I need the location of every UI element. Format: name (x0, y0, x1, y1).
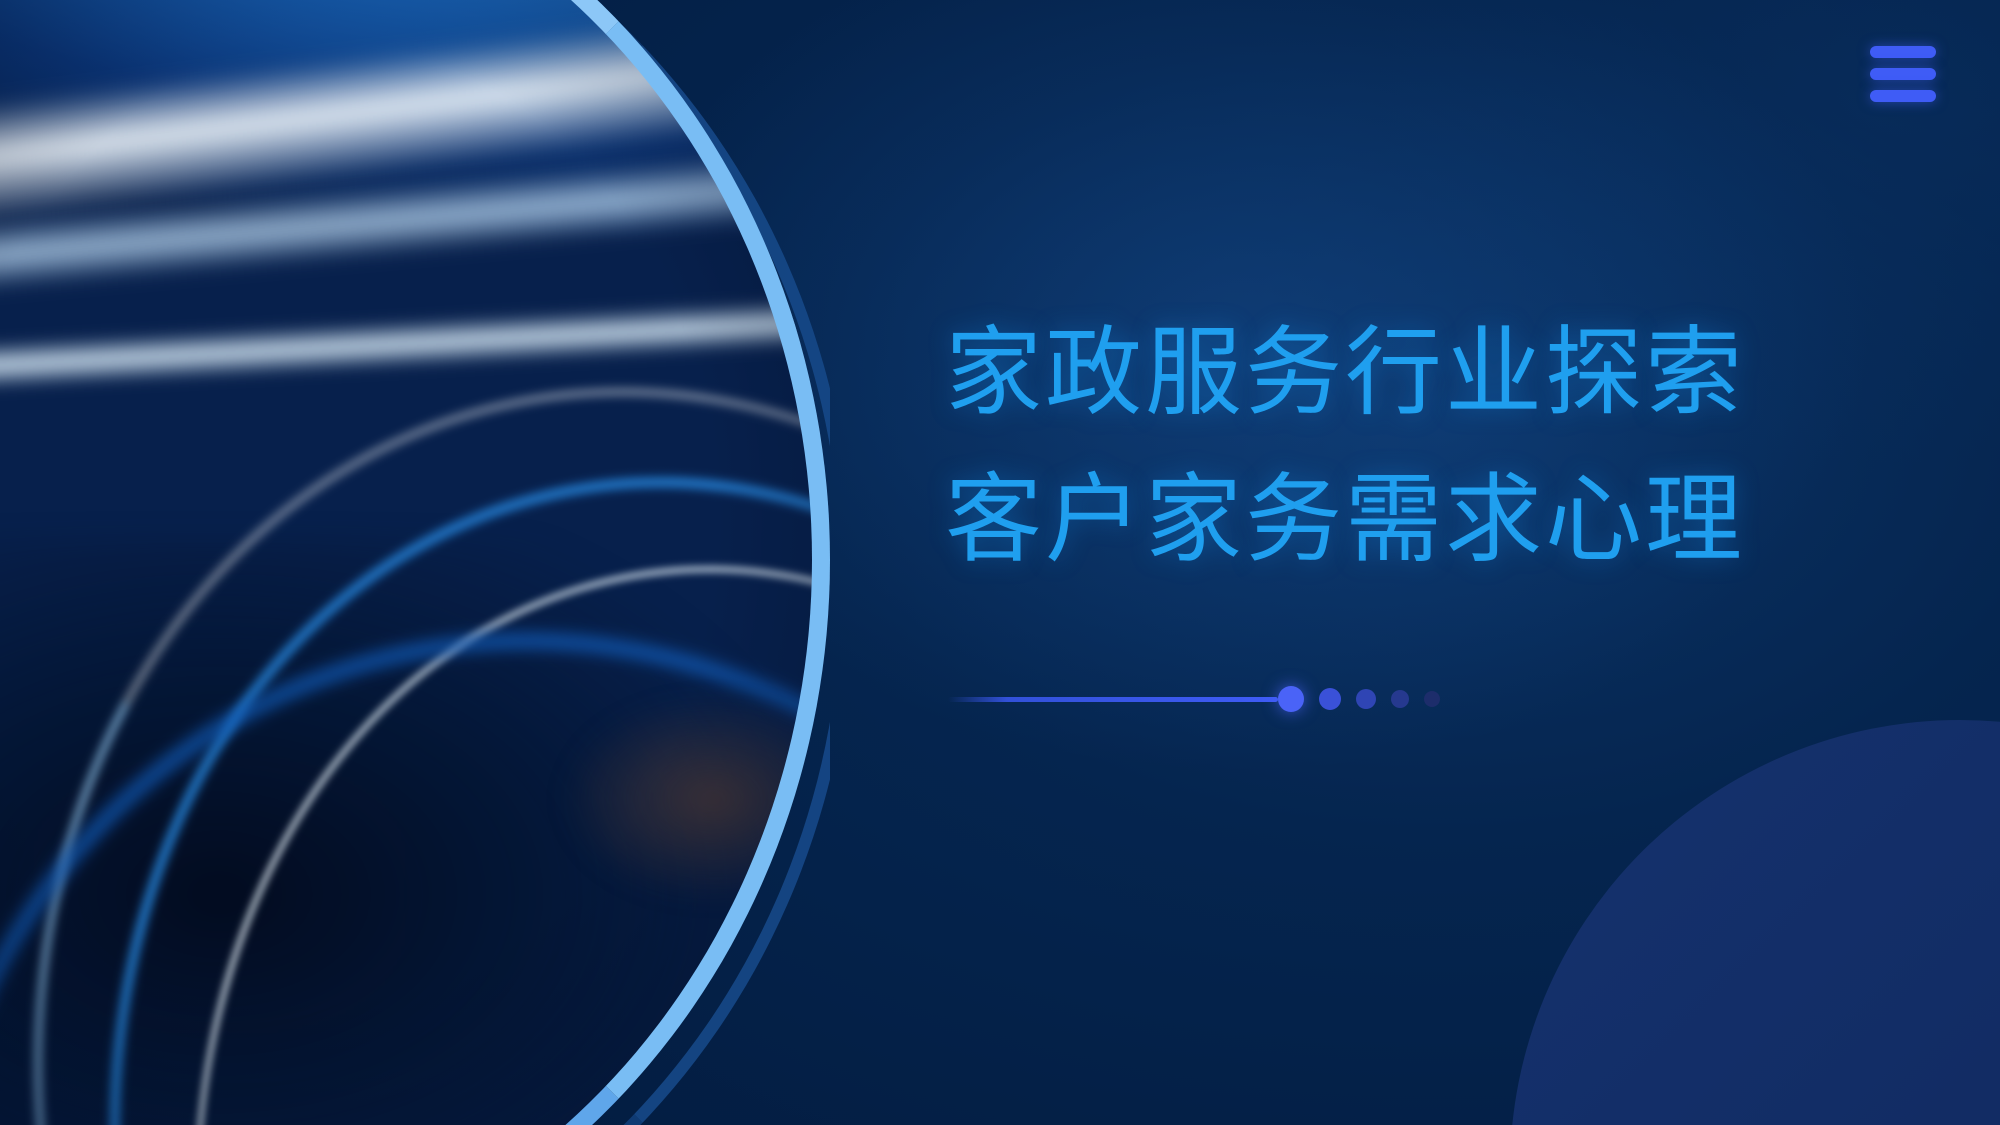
progress-dot-5[interactable] (1424, 691, 1440, 707)
page-title: 家政服务行业探索 客户家务需求心理 (945, 300, 1865, 595)
hamburger-bar-middle (1870, 68, 1936, 80)
progress-dot-4[interactable] (1391, 690, 1409, 708)
progress-dot-2[interactable] (1319, 688, 1341, 710)
decorative-arc-outer (0, 0, 830, 1125)
progress-rail (948, 697, 1278, 702)
title-line-1: 家政服务行业探索 (945, 300, 1865, 447)
title-line-2: 客户家务需求心理 (945, 447, 1865, 594)
progress-dots-decoration (948, 682, 1440, 716)
hero-image-panel (0, 0, 830, 1125)
progress-dot-3[interactable] (1356, 689, 1376, 709)
corner-decorative-circle (1510, 720, 2000, 1125)
hamburger-menu-icon[interactable] (1870, 46, 1936, 102)
progress-dot-1[interactable] (1278, 686, 1304, 712)
hamburger-bar-top (1870, 46, 1936, 58)
hamburger-bar-bottom (1870, 90, 1936, 102)
presentation-slide: 家政服务行业探索 客户家务需求心理 (0, 0, 2000, 1125)
